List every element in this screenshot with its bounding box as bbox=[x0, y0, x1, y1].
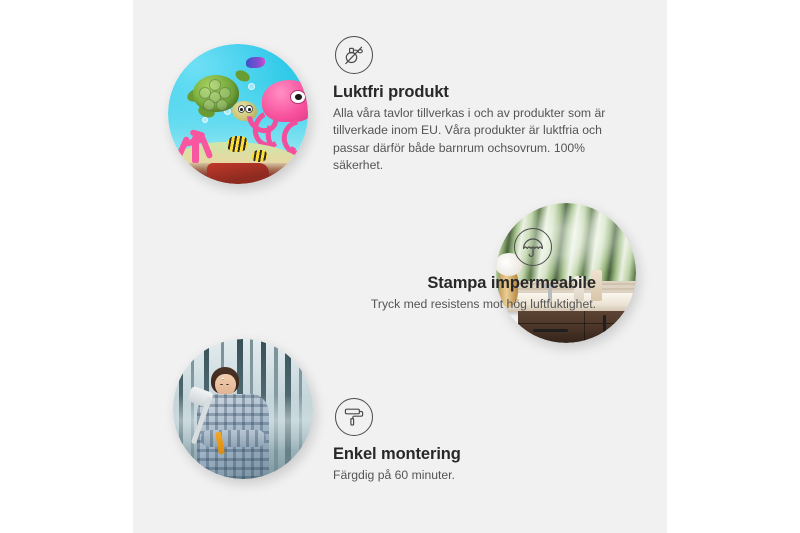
product-photo-ocean[interactable] bbox=[168, 44, 308, 184]
octopus-illustration bbox=[252, 80, 308, 147]
feature-description: Tryck med resistens mot hög luftfuktighe… bbox=[191, 296, 596, 313]
turtle-illustration bbox=[190, 75, 254, 123]
no-odour-perfume-bottle-icon bbox=[335, 36, 373, 74]
fish-yellow-icon bbox=[227, 136, 248, 151]
turtle-eye bbox=[238, 105, 246, 113]
fish-blue-icon bbox=[246, 57, 264, 68]
coral-illustration bbox=[174, 122, 219, 164]
fish-yellow-icon bbox=[252, 150, 267, 161]
product-photo-woman[interactable] bbox=[173, 339, 313, 479]
feature-block-odourless: Luktfri produkt Alla våra tavlor tillver… bbox=[333, 36, 623, 174]
feature-description: Alla våra tavlor tillverkas i och av pro… bbox=[333, 105, 623, 174]
product-photo-ocean-image bbox=[168, 44, 308, 184]
wood-vanity bbox=[518, 311, 636, 343]
woman-illustration bbox=[193, 367, 274, 479]
feature-title: Stampa impermeabile bbox=[191, 274, 596, 293]
product-photo-woman-image bbox=[173, 339, 313, 479]
content-panel: Luktfri produkt Alla våra tavlor tillver… bbox=[133, 0, 667, 533]
octopus-eye bbox=[290, 90, 306, 104]
paint-roller-icon bbox=[335, 398, 373, 436]
feature-description: Färgdig på 60 minuter. bbox=[333, 467, 623, 484]
infographic-canvas: Luktfri produkt Alla våra tavlor tillver… bbox=[0, 0, 800, 533]
umbrella-icon bbox=[514, 228, 552, 266]
woman-crossed-arms bbox=[201, 430, 266, 447]
feature-block-assembly: Enkel montering Färgdig på 60 minuter. bbox=[333, 398, 623, 484]
feature-title: Enkel montering bbox=[333, 445, 623, 464]
room-sofa bbox=[207, 163, 269, 184]
feature-title: Luktfri produkt bbox=[333, 83, 623, 102]
cabinet-pull bbox=[603, 315, 606, 335]
woman-face bbox=[215, 374, 236, 396]
drawer-pull bbox=[533, 329, 568, 332]
feature-block-waterproof: Stampa impermeabile Tryck med resistens … bbox=[191, 228, 596, 313]
